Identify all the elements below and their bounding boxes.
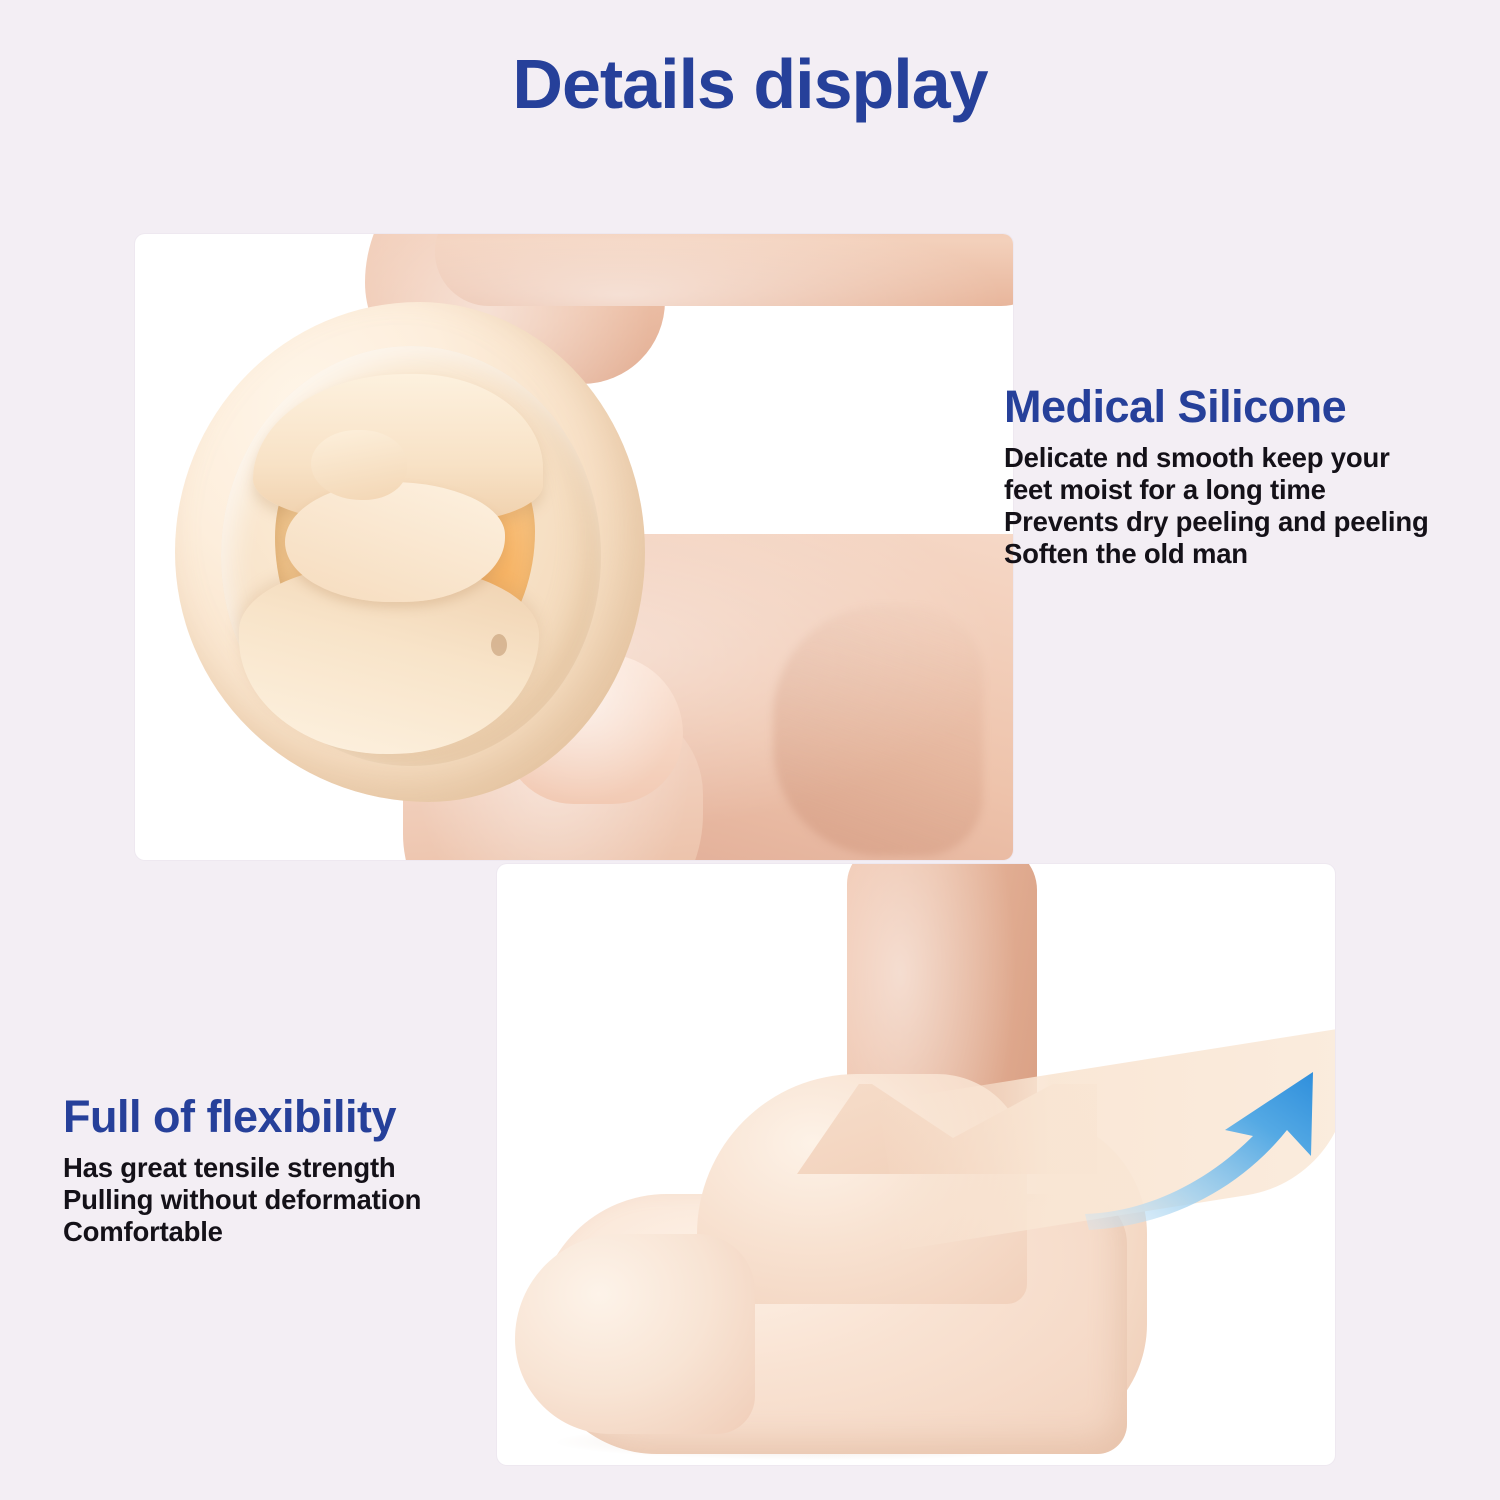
feature-description-medical-silicone: Delicate nd smooth keep your feet moist …	[1004, 442, 1454, 570]
page-title: Details display	[0, 48, 1500, 122]
hand-squeezing-silicone-sock-image	[135, 234, 1013, 860]
feature-line: Soften the old man	[1004, 538, 1454, 570]
silicone-sock-toe	[515, 1234, 755, 1434]
feature-line: Comfortable	[63, 1216, 513, 1248]
feature-block-full-of-flexibility: Full of flexibility Has great tensile st…	[63, 1093, 513, 1248]
feature-line: Delicate nd smooth keep your	[1004, 442, 1454, 474]
silicone-fold-notch	[311, 430, 407, 500]
feature-line: feet moist for a long time	[1004, 474, 1454, 506]
feature-description-full-of-flexibility: Has great tensile strength Pulling witho…	[63, 1152, 513, 1248]
silicone-fold-middle	[285, 482, 505, 602]
photo-card-foot	[497, 864, 1335, 1465]
hand-knuckle-shading	[773, 606, 983, 856]
feature-line: Pulling without deformation	[63, 1184, 513, 1216]
silicone-surface-speck	[491, 634, 507, 656]
foot-wearing-silicone-sock-image	[497, 864, 1335, 1465]
feature-heading-medical-silicone: Medical Silicone	[1004, 383, 1454, 430]
infographic-canvas: Details display Medical Silicone Delicat…	[0, 0, 1500, 1500]
feature-heading-full-of-flexibility: Full of flexibility	[63, 1093, 513, 1140]
stretch-arrow-icon	[1075, 1044, 1335, 1234]
feature-line: Has great tensile strength	[63, 1152, 513, 1184]
feature-line: Prevents dry peeling and peeling	[1004, 506, 1454, 538]
hand-index-finger	[435, 234, 1013, 306]
photo-card-squeeze	[135, 234, 1013, 860]
feature-block-medical-silicone: Medical Silicone Delicate nd smooth keep…	[1004, 383, 1454, 570]
